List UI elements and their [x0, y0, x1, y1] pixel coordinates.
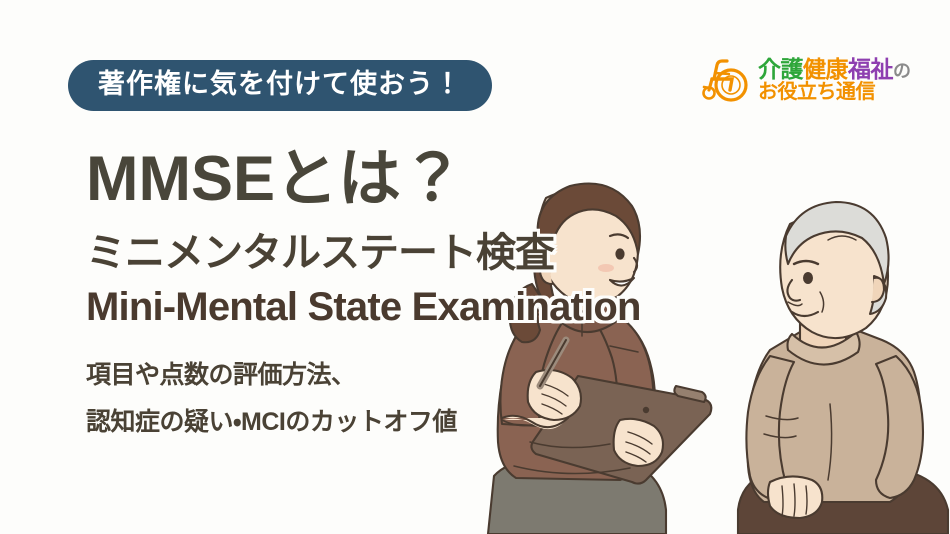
copyright-notice-badge: 著作権に気を付けて使おう！: [68, 60, 492, 111]
logo-line-primary: 介護健康福祉の: [758, 58, 911, 81]
elderly-man-figure: [738, 202, 948, 534]
copyright-notice-label: 著作権に気を付けて使おう！: [98, 71, 462, 98]
headline-text-block: MMSEとは？ ミニメンタルステート検査 Mini-Mental State E…: [86, 148, 641, 457]
site-logo[interactable]: 介護健康福祉の お役立ち通信: [700, 48, 940, 112]
logo-text: 介護健康福祉の お役立ち通信: [758, 58, 911, 103]
subtitle-japanese: ミニメンタルステート検査: [86, 233, 641, 273]
wheelchair-icon: [700, 57, 752, 103]
description-block: 項目や点数の評価方法、 認知症の疑い・MCIのカットオフ値: [86, 363, 641, 435]
logo-word-kaigo: 介護: [758, 56, 803, 82]
logo-word-fukushi: 福祉: [848, 56, 893, 82]
page-title: MMSEとは？: [86, 148, 641, 211]
subtitle-english: Mini-Mental State Examination: [86, 287, 641, 327]
description-line-1: 項目や点数の評価方法、: [86, 363, 641, 388]
description-line-2: 認知症の疑い・MCIのカットオフ値: [86, 410, 641, 435]
logo-line-secondary: お役立ち通信: [758, 82, 911, 102]
logo-word-kenko: 健康: [803, 56, 848, 82]
mmse-info-banner: 介護健康福祉の お役立ち通信 著作権に気を付けて使おう！: [0, 0, 950, 534]
logo-word-no: の: [893, 61, 911, 81]
